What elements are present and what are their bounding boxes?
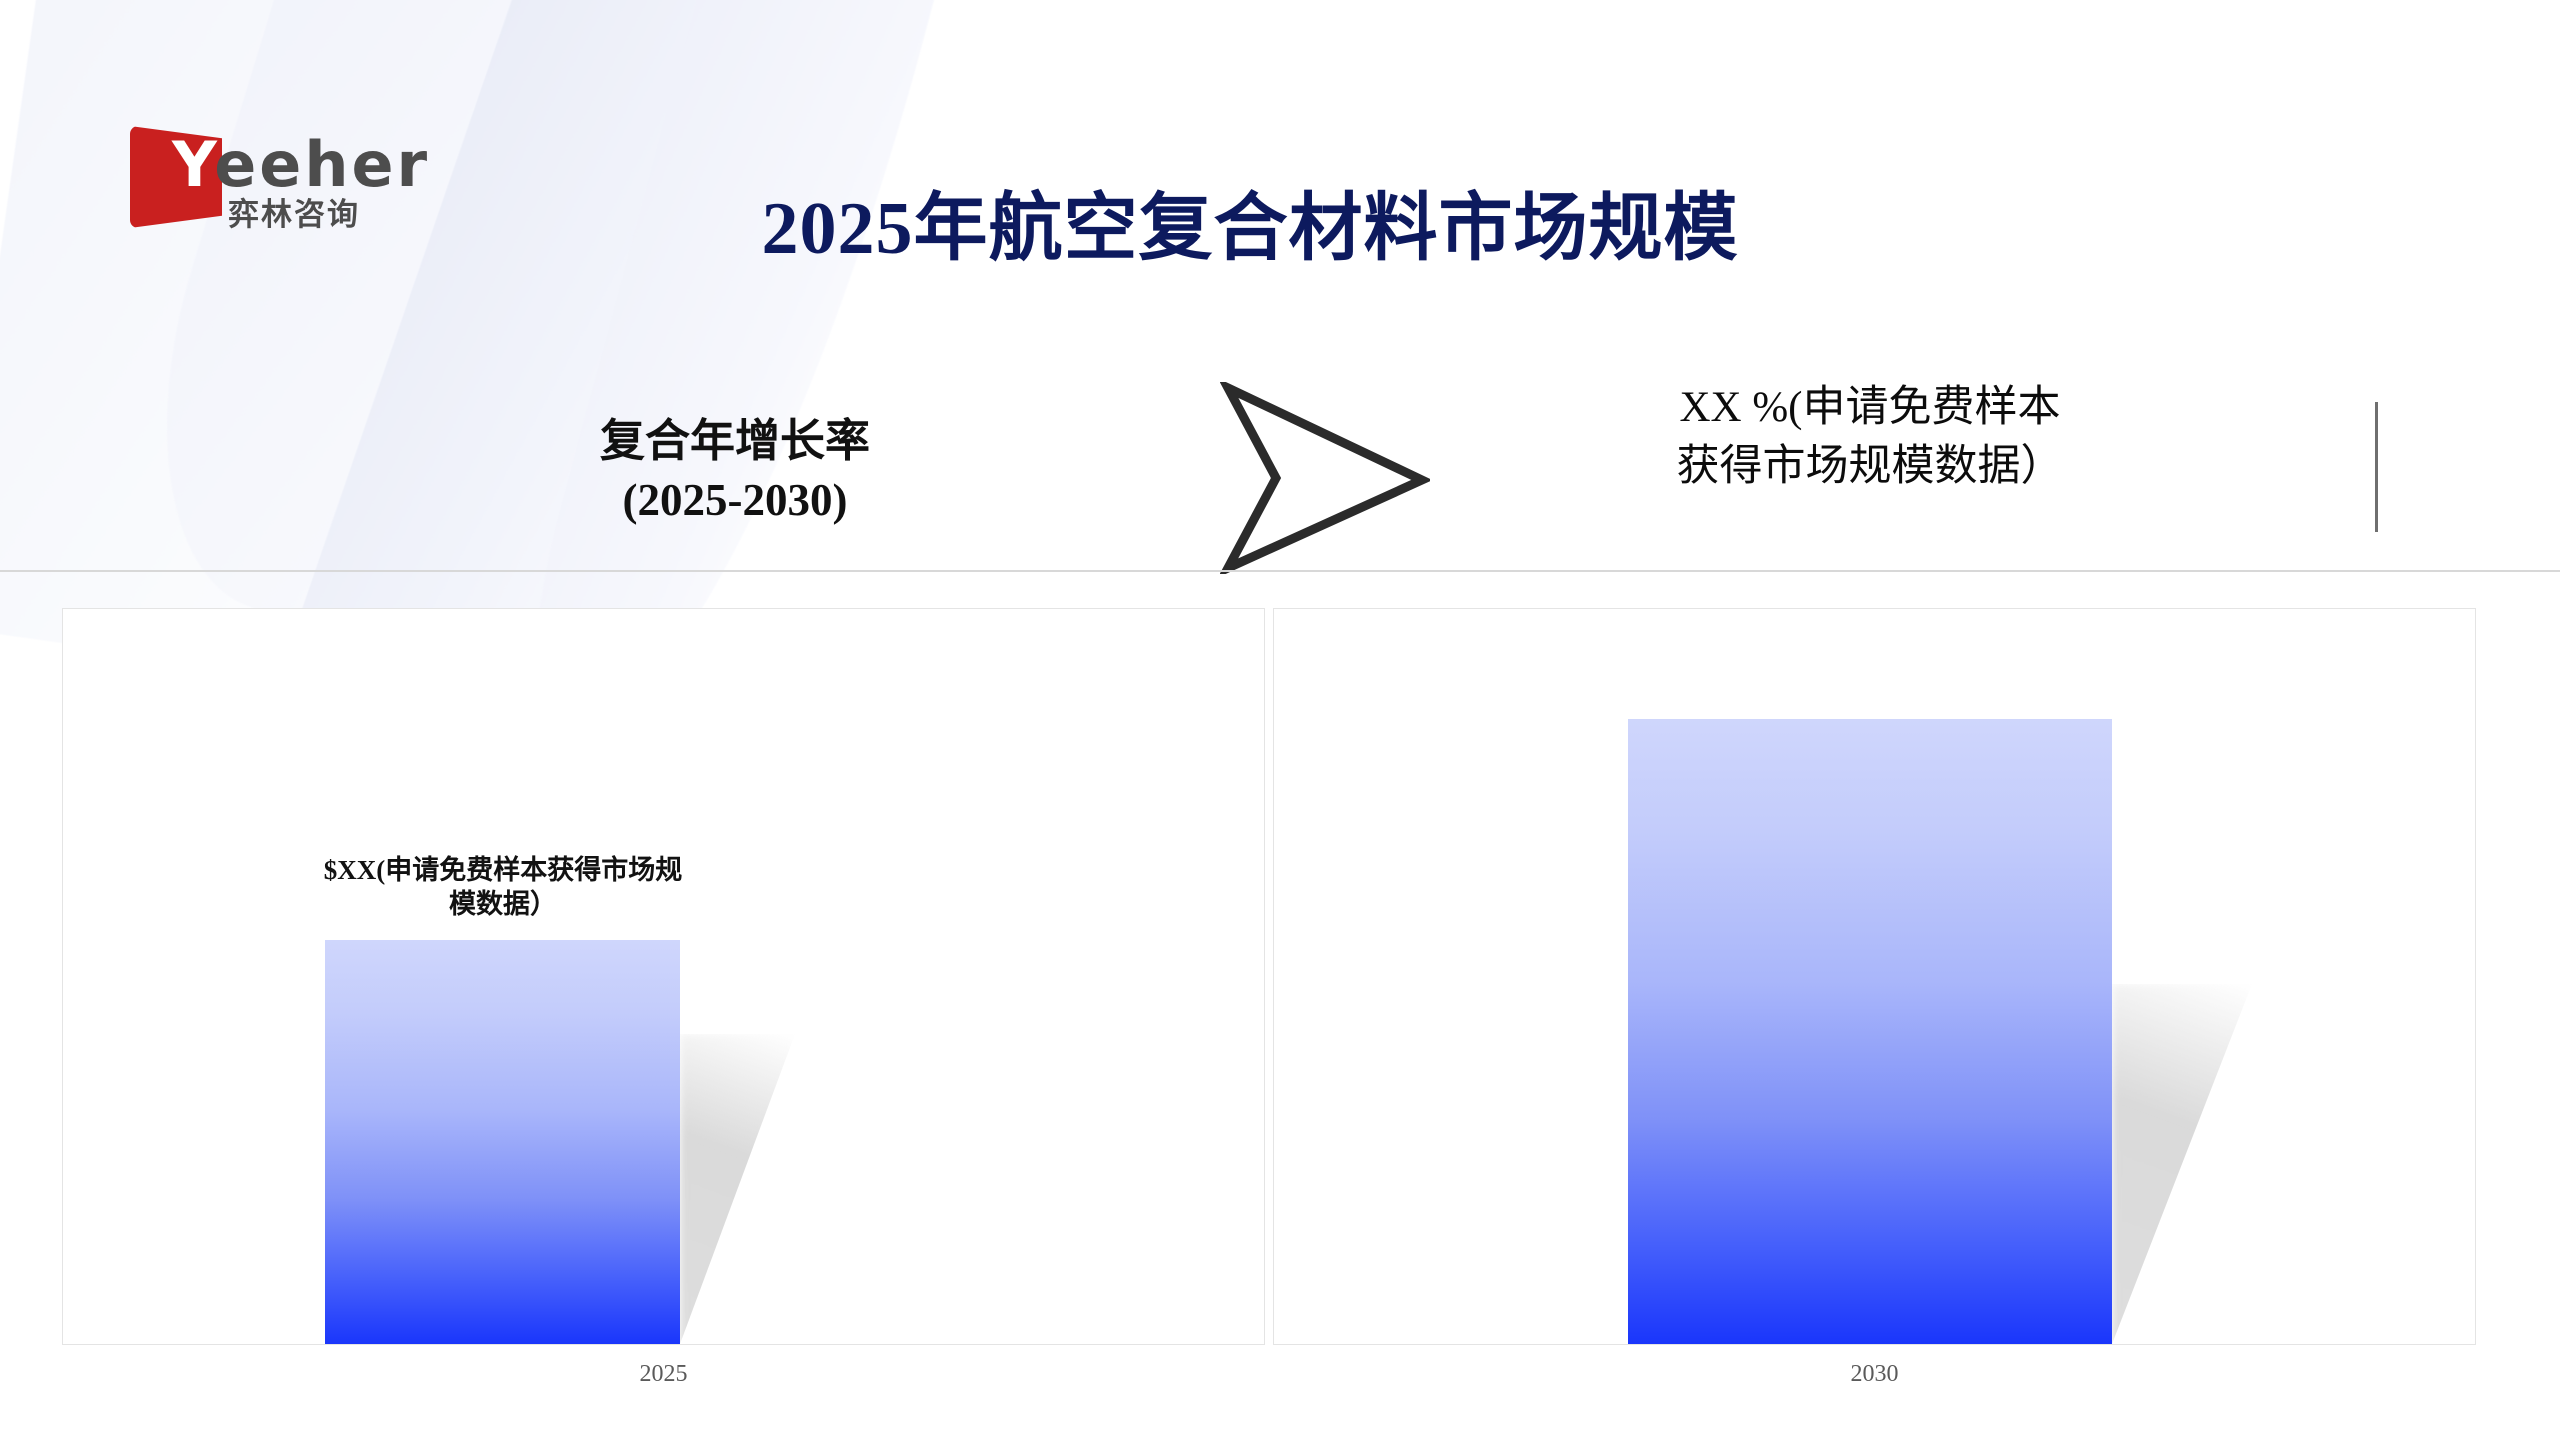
bar-shadow: [680, 1034, 795, 1344]
bar-2030[interactable]: [1628, 719, 2112, 1344]
bar-value-label-2025-line1: $XX(申请免费样本获得市场规: [278, 853, 728, 888]
logo-wordmark-capital: Y: [172, 128, 214, 201]
chart-panels: $XX(申请免费样本获得市场规 模数据） 2025 2030: [62, 608, 2476, 1345]
chart-panel-2025: $XX(申请免费样本获得市场规 模数据） 2025: [62, 608, 1265, 1345]
slide-root: Yeeher 弈林咨询 2025年航空复合材料市场规模 复合年增长率 (2025…: [0, 0, 2560, 1440]
vertical-divider: [2375, 402, 2378, 532]
cagr-value-line1: XX %(申请免费样本: [1620, 378, 2120, 437]
horizontal-divider: [0, 570, 2560, 572]
cagr-value: XX %(申请免费样本 获得市场规模数据）: [1620, 378, 2120, 497]
x-tick-label-2025: 2025: [63, 1361, 1264, 1388]
arrow-right-outline-icon: [1220, 382, 1430, 574]
cagr-label-line2: (2025-2030): [520, 471, 950, 530]
x-tick-label-2030: 2030: [1274, 1361, 2475, 1388]
background-swoosh-mid: [102, 0, 897, 714]
logo-subtitle: 弈林咨询: [228, 200, 360, 231]
bar-value-label-2025-line2: 模数据）: [278, 887, 728, 922]
plot-area-2025: $XX(申请免费样本获得市场规 模数据）: [63, 609, 1264, 1344]
plot-area-2030: [1274, 609, 2475, 1344]
logo-wordmark-rest: eeher: [214, 128, 430, 201]
bar-shadow: [2112, 984, 2252, 1344]
brand-logo: Yeeher 弈林咨询: [130, 118, 470, 228]
cagr-value-line2: 获得市场规模数据）: [1620, 437, 2120, 496]
page-title: 2025年航空复合材料市场规模: [650, 168, 1850, 275]
chart-panel-2030: 2030: [1273, 608, 2476, 1345]
bar-value-label-2025: $XX(申请免费样本获得市场规 模数据）: [278, 853, 728, 922]
cagr-label-line1: 复合年增长率: [520, 412, 950, 471]
background-swoosh-left: [0, 0, 472, 685]
bar-2025[interactable]: [325, 940, 680, 1344]
logo-wordmark: Yeeher: [172, 134, 430, 196]
cagr-label: 复合年增长率 (2025-2030): [520, 412, 950, 531]
